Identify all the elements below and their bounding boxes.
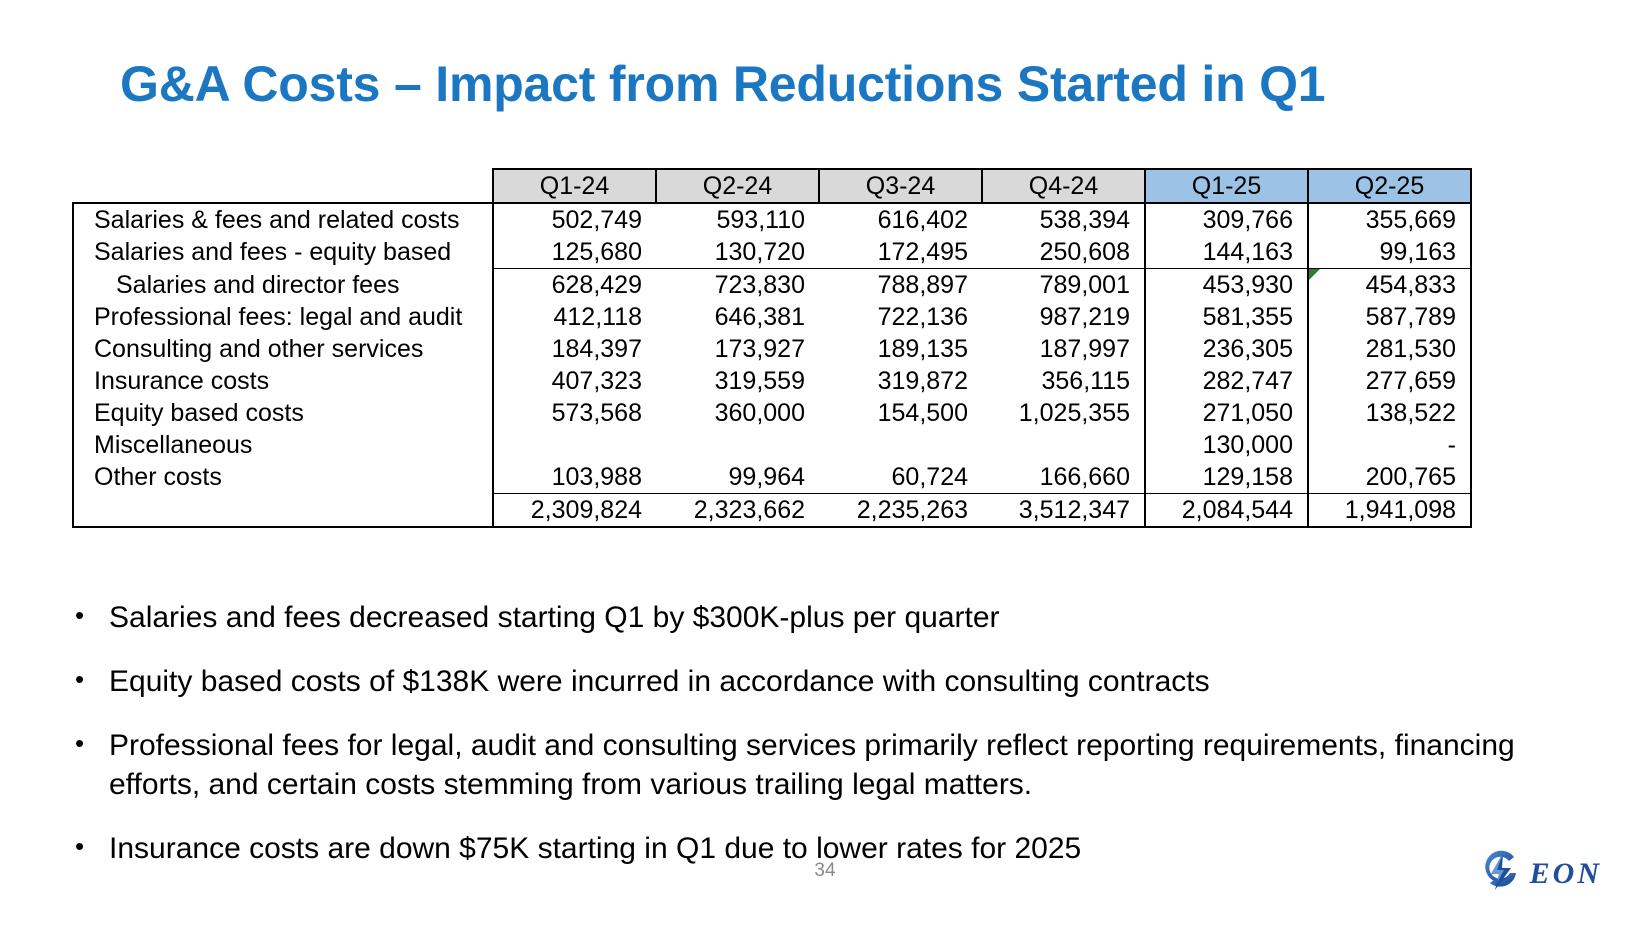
cell-q4-24: 250,608 (982, 236, 1145, 269)
cell-q1-25: 236,305 (1145, 333, 1308, 365)
cell-q1-24: 573,568 (493, 397, 656, 429)
total-q3-24: 2,235,263 (819, 494, 982, 528)
table-row: Equity based costs 573,568 360,000 154,5… (73, 397, 1471, 429)
cell-q1-25: 581,355 (1145, 301, 1308, 333)
row-label-other-costs: Other costs (73, 461, 493, 494)
cell-value: 454,833 (1366, 271, 1456, 299)
column-header-q1-25: Q1-25 (1145, 169, 1308, 203)
page-number: 34 (0, 860, 1650, 882)
cell-q4-24: 1,025,355 (982, 397, 1145, 429)
eon-logo: EON (1478, 848, 1602, 899)
cell-q1-25: 282,747 (1145, 365, 1308, 397)
table-row-subtotal: Salaries and director fees 628,429 723,8… (73, 269, 1471, 302)
bullet-marker-icon: • (70, 726, 109, 761)
cell-q4-24: 538,394 (982, 203, 1145, 236)
table-row: Professional fees: legal and audit 412,1… (73, 301, 1471, 333)
bullet-item-equity-based-costs: • Equity based costs of $138K were incur… (70, 662, 1570, 701)
total-q1-24: 2,309,824 (493, 494, 656, 528)
cell-q3-24: 722,136 (819, 301, 982, 333)
cell-q2-25: 454,833 (1308, 269, 1471, 302)
cell-q1-24: 628,429 (493, 269, 656, 302)
page-title: G&A Costs – Impact from Reductions Start… (120, 55, 1540, 113)
table-header: Q1-24 Q2-24 Q3-24 Q4-24 Q1-25 Q2-25 (73, 169, 1471, 203)
cell-q2-25: 277,659 (1308, 365, 1471, 397)
column-header-q2-25: Q2-25 (1308, 169, 1471, 203)
cell-q2-25: 355,669 (1308, 203, 1471, 236)
bullet-marker-icon: • (70, 598, 109, 633)
cell-q2-25: 281,530 (1308, 333, 1471, 365)
row-label-total (73, 494, 493, 528)
table-row: Salaries & fees and related costs 502,74… (73, 203, 1471, 236)
cell-q3-24: 319,872 (819, 365, 982, 397)
cell-q2-24: 723,830 (656, 269, 819, 302)
cell-q2-25: 99,163 (1308, 236, 1471, 269)
table-row-total: 2,309,824 2,323,662 2,235,263 3,512,347 … (73, 494, 1471, 528)
ga-costs-table: Q1-24 Q2-24 Q3-24 Q4-24 Q1-25 Q2-25 Sala… (72, 168, 1472, 528)
table-row: Insurance costs 407,323 319,559 319,872 … (73, 365, 1471, 397)
bullet-marker-icon: • (70, 829, 109, 864)
row-label-insurance-costs: Insurance costs (73, 365, 493, 397)
bullet-text: Equity based costs of $138K were incurre… (109, 662, 1570, 701)
cell-q3-24: 788,897 (819, 269, 982, 302)
column-header-q3-24: Q3-24 (819, 169, 982, 203)
cell-q1-24: 103,988 (493, 461, 656, 494)
cell-q3-24: 60,724 (819, 461, 982, 494)
table-row: Miscellaneous 130,000 - (73, 429, 1471, 461)
row-label-equity-based-costs: Equity based costs (73, 397, 493, 429)
cell-q2-24: 646,381 (656, 301, 819, 333)
bullet-text: Salaries and fees decreased starting Q1 … (109, 598, 1570, 637)
cell-q2-25: - (1308, 429, 1471, 461)
cell-q2-24: 593,110 (656, 203, 819, 236)
cell-q1-24: 412,118 (493, 301, 656, 333)
bullet-item-salaries: • Salaries and fees decreased starting Q… (70, 598, 1570, 637)
cell-q3-24 (819, 429, 982, 461)
table-row: Salaries and fees - equity based 125,680… (73, 236, 1471, 269)
cell-q2-24 (656, 429, 819, 461)
bullet-text: Professional fees for legal, audit and c… (109, 726, 1570, 804)
cell-q4-24: 187,997 (982, 333, 1145, 365)
lightning-bolt-circle-icon (1478, 848, 1524, 899)
row-label-professional-fees-legal-audit: Professional fees: legal and audit (73, 301, 493, 333)
bullet-list: • Salaries and fees decreased starting Q… (70, 598, 1570, 893)
comment-flag-icon (1309, 269, 1320, 280)
cell-q2-25: 587,789 (1308, 301, 1471, 333)
cell-q2-24: 360,000 (656, 397, 819, 429)
logo-text: EON (1530, 857, 1602, 891)
cell-q1-24: 184,397 (493, 333, 656, 365)
total-q1-25: 2,084,544 (1145, 494, 1308, 528)
cell-q1-25: 309,766 (1145, 203, 1308, 236)
cell-q2-24: 173,927 (656, 333, 819, 365)
slide-canvas: G&A Costs – Impact from Reductions Start… (0, 0, 1650, 928)
cell-q2-25: 200,765 (1308, 461, 1471, 494)
row-label-miscellaneous: Miscellaneous (73, 429, 493, 461)
cell-q2-24: 130,720 (656, 236, 819, 269)
row-label-consulting-and-other-services: Consulting and other services (73, 333, 493, 365)
row-label-salaries-fees-equity-based: Salaries and fees - equity based (73, 236, 493, 269)
header-corner-blank (73, 169, 493, 203)
cell-q2-24: 319,559 (656, 365, 819, 397)
bullet-item-professional-fees: • Professional fees for legal, audit and… (70, 726, 1570, 804)
cell-q1-24 (493, 429, 656, 461)
table-body: Salaries & fees and related costs 502,74… (73, 203, 1471, 527)
column-header-q4-24: Q4-24 (982, 169, 1145, 203)
cell-q1-25: 144,163 (1145, 236, 1308, 269)
cell-q4-24: 987,219 (982, 301, 1145, 333)
column-header-q1-24: Q1-24 (493, 169, 656, 203)
total-q4-24: 3,512,347 (982, 494, 1145, 528)
cell-q3-24: 154,500 (819, 397, 982, 429)
table-row: Consulting and other services 184,397 17… (73, 333, 1471, 365)
total-q2-24: 2,323,662 (656, 494, 819, 528)
cell-q4-24: 166,660 (982, 461, 1145, 494)
cell-q2-24: 99,964 (656, 461, 819, 494)
cell-q1-25: 271,050 (1145, 397, 1308, 429)
row-label-salaries-fees-related-costs: Salaries & fees and related costs (73, 203, 493, 236)
cell-q4-24: 356,115 (982, 365, 1145, 397)
cell-q4-24: 789,001 (982, 269, 1145, 302)
header-row: Q1-24 Q2-24 Q3-24 Q4-24 Q1-25 Q2-25 (73, 169, 1471, 203)
row-label-salaries-and-director-fees: Salaries and director fees (73, 269, 493, 302)
cell-q1-24: 502,749 (493, 203, 656, 236)
bullet-marker-icon: • (70, 662, 109, 697)
column-header-q2-24: Q2-24 (656, 169, 819, 203)
cell-q1-24: 407,323 (493, 365, 656, 397)
table-row: Other costs 103,988 99,964 60,724 166,66… (73, 461, 1471, 494)
cell-q1-25: 130,000 (1145, 429, 1308, 461)
cell-q4-24 (982, 429, 1145, 461)
cell-q3-24: 189,135 (819, 333, 982, 365)
ga-costs-table-container: Q1-24 Q2-24 Q3-24 Q4-24 Q1-25 Q2-25 Sala… (72, 168, 1472, 528)
cell-q2-25: 138,522 (1308, 397, 1471, 429)
total-q2-25: 1,941,098 (1308, 494, 1471, 528)
cell-q1-25: 453,930 (1145, 269, 1308, 302)
cell-q1-24: 125,680 (493, 236, 656, 269)
cell-q3-24: 616,402 (819, 203, 982, 236)
cell-q3-24: 172,495 (819, 236, 982, 269)
cell-q1-25: 129,158 (1145, 461, 1308, 494)
